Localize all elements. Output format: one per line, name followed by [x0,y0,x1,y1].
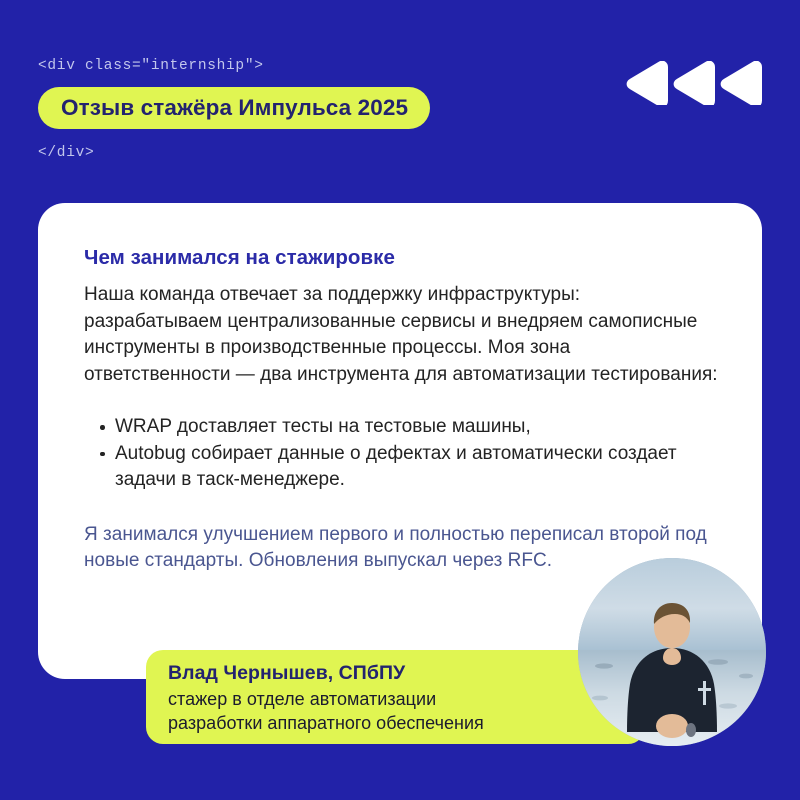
title-pill: Отзыв стажёра Импульса 2025 [38,87,430,129]
code-tag-open: <div class="internship"> [38,58,264,74]
avatar [578,558,766,746]
list-item: WRAP доставляет тесты на тестовые машины… [84,414,718,441]
author-role-line-1: стажер в отделе автоматизации [168,687,645,711]
page-title: Отзыв стажёра Импульса 2025 [61,97,408,120]
code-tag-close: </div> [38,145,94,161]
card-closing-paragraph: Я занимался улучшением первого и полност… [84,522,718,575]
left-triangle-icon [673,61,715,105]
card-content: Чем занимался на стажировке Наша команда… [38,203,762,575]
card-heading: Чем занимался на стажировке [84,246,718,270]
slide-root: <div class="internship"> Отзыв стажёра И… [0,0,800,800]
tools-bullet-list: WRAP доставляет тесты на тестовые машины… [84,414,718,494]
author-role-line-2: разработки аппаратного обеспечения [168,711,645,735]
left-triangle-icon [626,61,668,105]
author-banner: Влад Чернышев, СПбПУ стажер в отделе авт… [146,650,645,744]
card-intro-paragraph: Наша команда отвечает за поддержку инфра… [84,282,718,388]
brand-logo [626,61,762,105]
left-triangle-icon [720,61,762,105]
author-name: Влад Чернышев, СПбПУ [168,660,645,687]
list-item: Autobug собирает данные о дефектах и авт… [84,441,718,494]
